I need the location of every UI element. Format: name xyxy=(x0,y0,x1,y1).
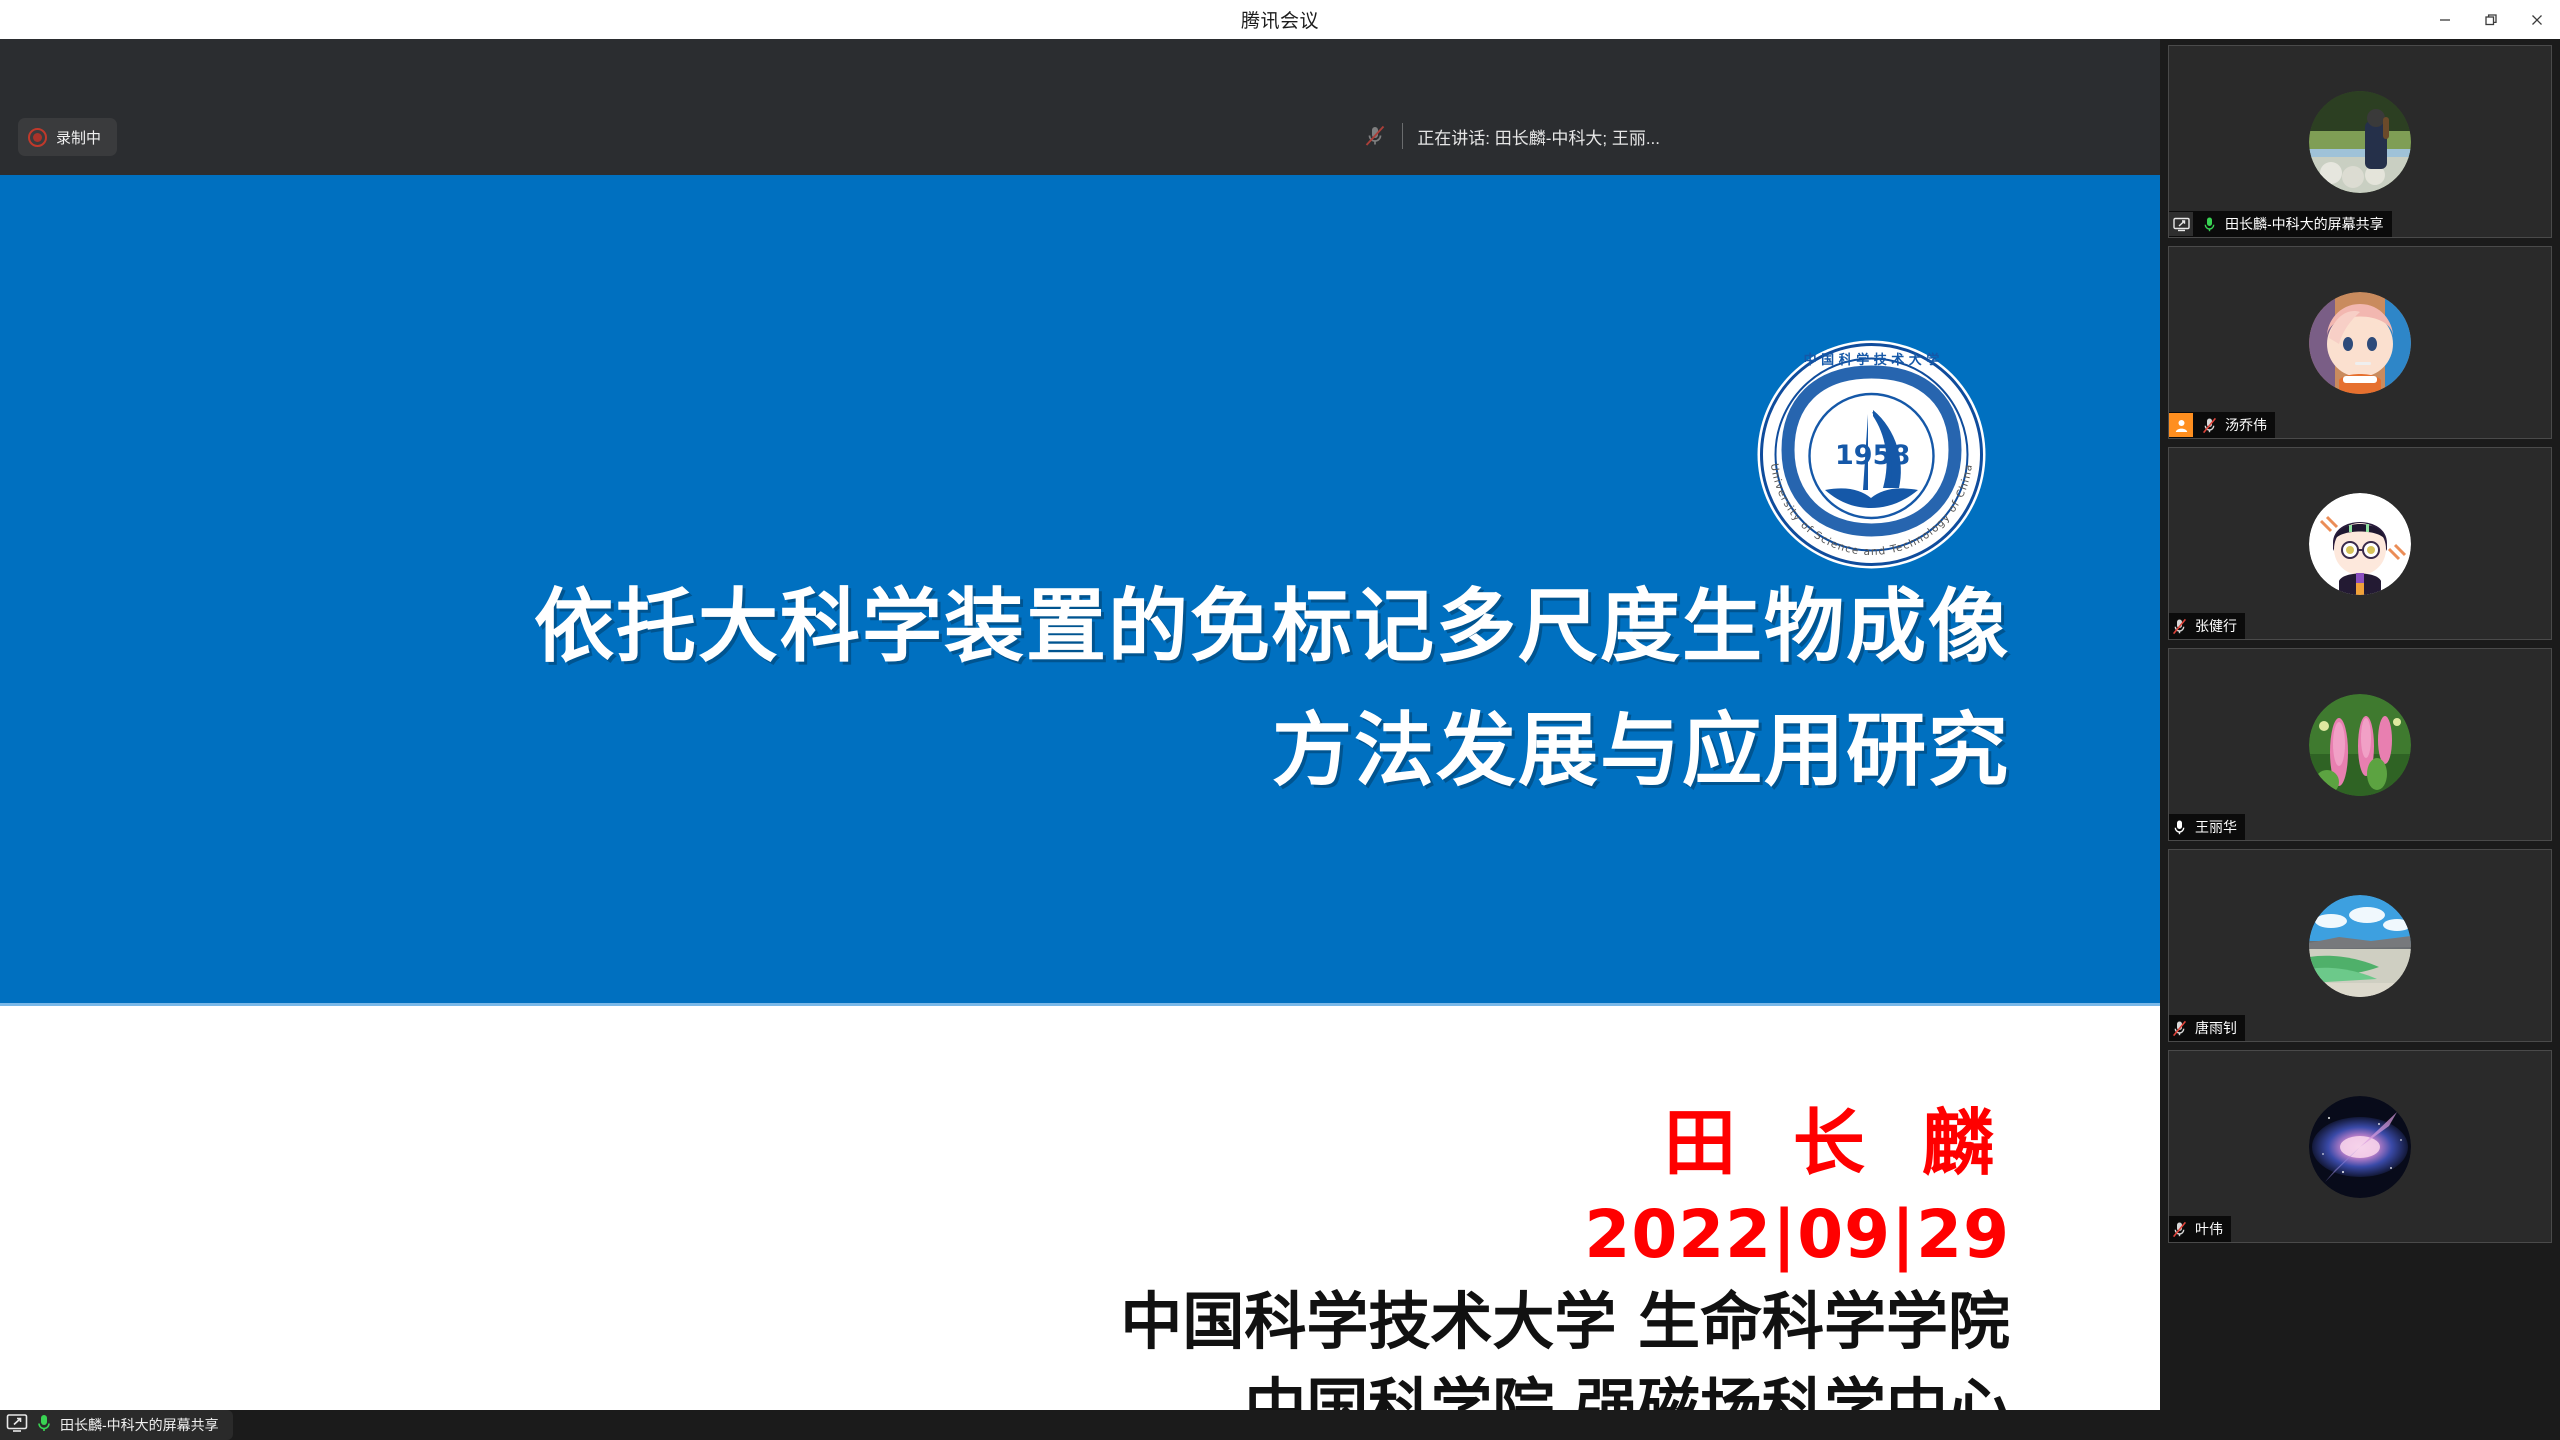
mic-muted-icon xyxy=(2169,616,2189,636)
screen-share-icon xyxy=(6,1413,28,1438)
participant-footer: 田长麟-中科大的屏幕共享 xyxy=(2169,211,2392,237)
participant-tile[interactable]: 叶伟 xyxy=(2168,1050,2552,1243)
shared-screen-area: 1958 中 国 科 学 技 术 大 学 University of Scien… xyxy=(0,94,2160,1394)
slide-affiliation-1: 中国科学技术大学 生命科学学院 xyxy=(0,1279,2010,1365)
avatar xyxy=(2309,91,2411,193)
bottom-share-chip[interactable]: 田长麟-中科大的屏幕共享 xyxy=(0,1410,233,1440)
ustc-logo: 1958 中 国 科 学 技 术 大 学 University of Scien… xyxy=(1755,338,1988,571)
participant-name: 张健行 xyxy=(2195,616,2237,636)
participant-tile[interactable]: 王丽华 xyxy=(2168,648,2552,841)
meeting-body: 录制中 正在讲话: 田长麟-中科大; 王丽... xyxy=(0,39,2560,1440)
slide-title: 依托大科学装置的免标记多尺度生物成像 方法发展与应用研究 xyxy=(0,565,2010,813)
mic-muted-icon xyxy=(2169,1018,2189,1038)
participant-name: 叶伟 xyxy=(2195,1219,2223,1239)
mic-on-icon xyxy=(2169,817,2189,837)
avatar xyxy=(2309,895,2411,997)
slide-presentation-date: 2022|09|29 xyxy=(0,1191,2010,1279)
slide-divider-line xyxy=(0,1003,2160,1006)
participant-footer: 叶伟 xyxy=(2169,1216,2231,1242)
participant-name: 唐雨钊 xyxy=(2195,1018,2237,1038)
participant-name: 田长麟-中科大的屏幕共享 xyxy=(2225,214,2384,234)
slide-title-line-1: 依托大科学装置的免标记多尺度生物成像 xyxy=(0,565,2010,689)
mic-muted-icon xyxy=(2199,415,2219,435)
presentation-slide: 1958 中 国 科 学 技 术 大 学 University of Scien… xyxy=(0,175,2160,1440)
window-controls xyxy=(2422,0,2560,39)
avatar xyxy=(2309,292,2411,394)
mic-muted-icon xyxy=(2169,1219,2189,1239)
participant-sidebar[interactable]: 田长麟-中科大的屏幕共享 xyxy=(2160,39,2560,1440)
avatar xyxy=(2309,694,2411,796)
window-titlebar: 腾讯会议 xyxy=(0,0,2560,39)
participant-tile[interactable]: 唐雨钊 xyxy=(2168,849,2552,1042)
mic-on-icon xyxy=(2199,214,2219,234)
slide-title-line-2: 方法发展与应用研究 xyxy=(0,689,2010,813)
mic-on-icon xyxy=(36,1413,52,1438)
participant-tile[interactable]: 张健行 xyxy=(2168,447,2552,640)
host-badge-icon xyxy=(2169,413,2193,437)
window-title: 腾讯会议 xyxy=(1241,6,1319,33)
tencent-meeting-window: 腾讯会议 xyxy=(0,0,2560,1440)
slide-author-name: 田 长 麟 xyxy=(0,1095,2010,1191)
participant-footer: 张健行 xyxy=(2169,613,2245,639)
avatar xyxy=(2309,493,2411,595)
participant-footer: 汤乔伟 xyxy=(2169,412,2275,438)
participant-name: 汤乔伟 xyxy=(2225,415,2267,435)
slide-author-block: 田 长 麟 2022|09|29 中国科学技术大学 生命科学学院 中国科学院 强… xyxy=(0,1095,2010,1440)
restore-button[interactable] xyxy=(2468,0,2514,39)
bottom-share-label: 田长麟-中科大的屏幕共享 xyxy=(60,1415,219,1435)
participant-tile[interactable]: 汤乔伟 xyxy=(2168,246,2552,439)
svg-text:中 国 科 学 技 术 大 学: 中 国 科 学 技 术 大 学 xyxy=(1804,352,1940,368)
participant-footer: 唐雨钊 xyxy=(2169,1015,2245,1041)
participant-footer: 王丽华 xyxy=(2169,814,2245,840)
bottom-share-bar: 田长麟-中科大的屏幕共享 xyxy=(0,1410,2160,1440)
participant-tile[interactable]: 田长麟-中科大的屏幕共享 xyxy=(2168,45,2552,238)
minimize-button[interactable] xyxy=(2422,0,2468,39)
screen-share-icon xyxy=(2169,212,2193,236)
close-button[interactable] xyxy=(2514,0,2560,39)
participant-name: 王丽华 xyxy=(2195,817,2237,837)
avatar xyxy=(2309,1096,2411,1198)
